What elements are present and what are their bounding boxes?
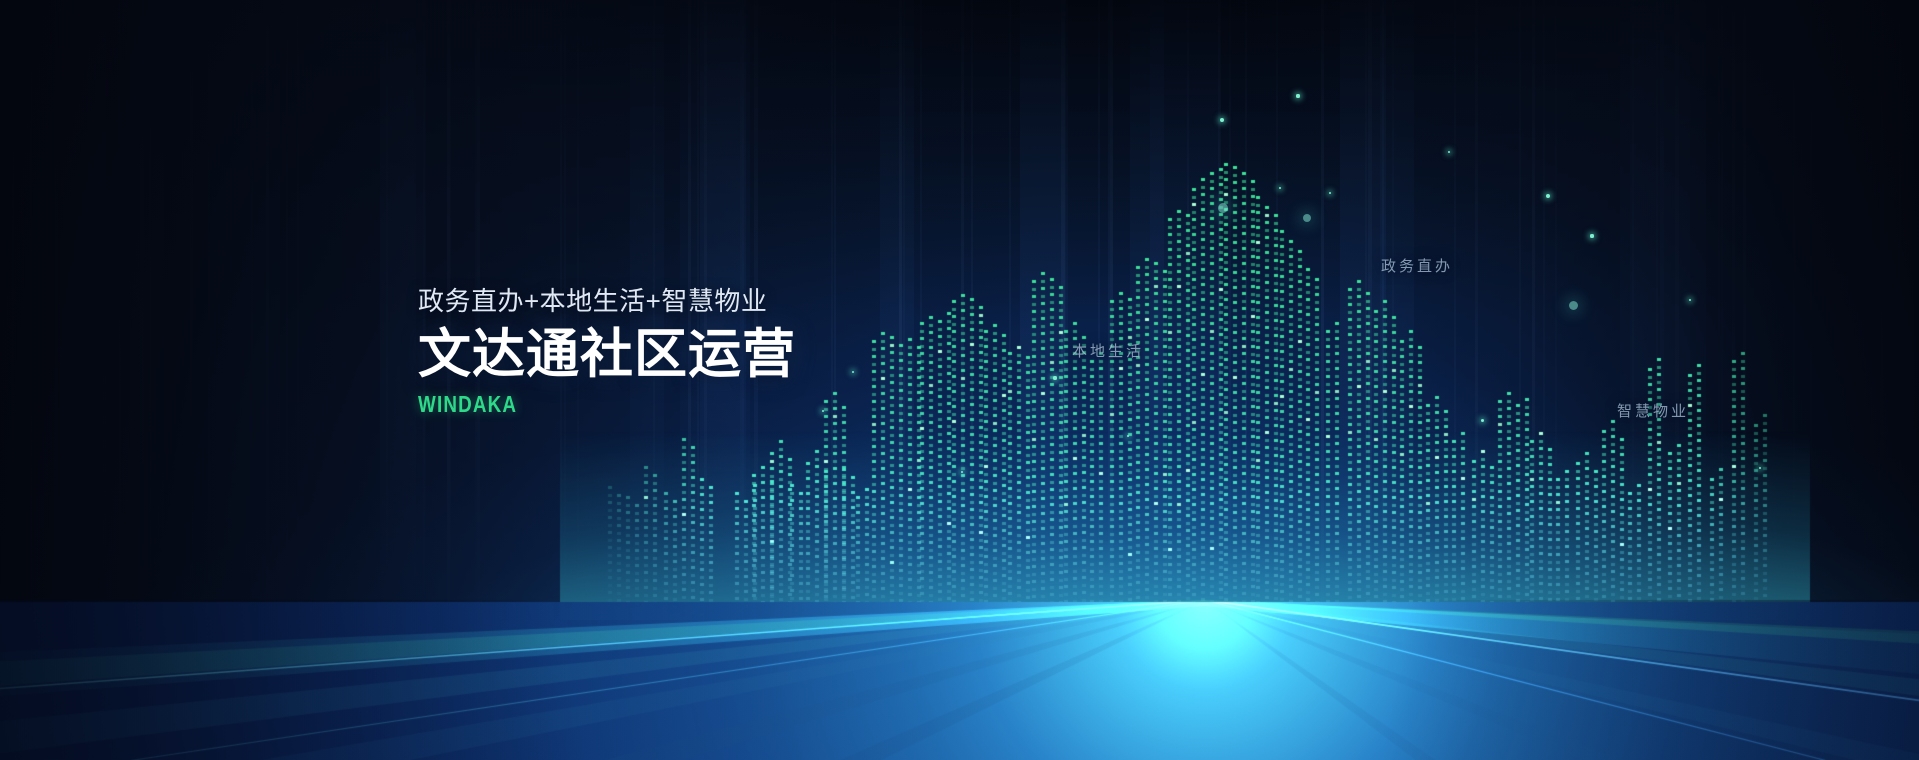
building-label-2: 政务直办 [1381, 255, 1453, 276]
brand-wordmark: WINDAKA [418, 393, 728, 416]
building-label-1: 本地生活 [1072, 340, 1144, 361]
hero-subtitle: 政务直办+本地生活+智慧物业 [418, 288, 796, 314]
hero-copy-block: 政务直办+本地生活+智慧物业 文达通社区运营 WINDAKA [418, 288, 796, 416]
hero-banner: 本地生活政务直办智慧物业 政务直办+本地生活+智慧物业 文达通社区运营 WIND… [0, 0, 1919, 760]
perspective-ground-plane [0, 0, 1919, 760]
hero-headline: 文达通社区运营 [418, 328, 796, 381]
building-label-3: 智慧物业 [1617, 400, 1689, 421]
